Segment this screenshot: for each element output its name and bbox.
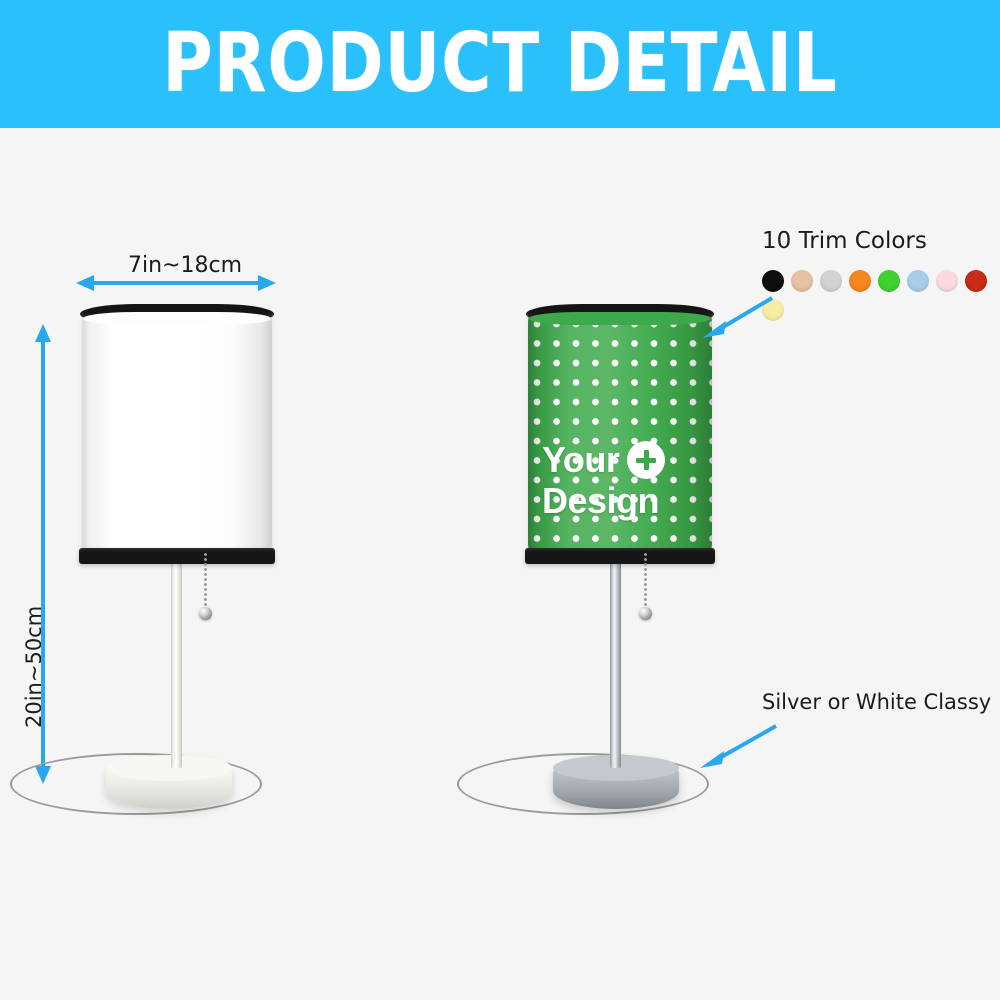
trim-swatch-tan[interactable] [791, 270, 813, 292]
pull-chain-white[interactable] [204, 552, 207, 610]
lamp-base-white [106, 755, 232, 809]
artwork-line-1: Your [542, 441, 665, 479]
trim-swatch-light-blue[interactable] [907, 270, 929, 292]
lamp-pole-silver [610, 553, 621, 768]
pull-chain-silver[interactable] [644, 552, 647, 610]
trim-colors-pointer-arrow [700, 292, 778, 340]
product-illustration-stage: 7in~18cm 20in~50cm [0, 128, 1000, 1000]
shade-trim-top-white [80, 304, 274, 324]
base-finish-label: Silver or White Classy [762, 690, 991, 714]
header-banner: PRODUCT DETAIL [0, 0, 1000, 128]
trim-swatch-black[interactable] [762, 270, 784, 292]
lamp-pole-white [171, 553, 182, 768]
base-top-surface [106, 755, 232, 781]
trim-swatch-pink[interactable] [936, 270, 958, 292]
lampshade-white [82, 313, 272, 553]
pull-chain-ball-silver[interactable] [639, 607, 652, 620]
shade-trim-top-green [526, 304, 714, 324]
pull-chain-ball-white[interactable] [199, 607, 212, 620]
shade-trim-bottom-white [79, 548, 275, 564]
trim-swatch-green[interactable] [878, 270, 900, 292]
artwork-your-text: Your [542, 442, 619, 477]
shade-trim-bottom-green [525, 548, 715, 564]
artwork-design-text: Design [542, 483, 659, 518]
white-lamp [0, 128, 360, 828]
lampshade-green: Your Design [528, 313, 712, 553]
page-title: PRODUCT DETAIL [162, 23, 837, 105]
trim-color-swatch-grid[interactable] [762, 270, 1000, 321]
shade-artwork: Your Design [542, 441, 665, 518]
plus-icon [627, 441, 665, 479]
trim-swatch-red[interactable] [965, 270, 987, 292]
artwork-line-2: Design [542, 483, 665, 518]
base-finish-pointer-arrow [696, 720, 782, 770]
trim-colors-title: 10 Trim Colors [762, 228, 927, 254]
shade-surface-white [82, 313, 272, 553]
trim-swatch-orange[interactable] [849, 270, 871, 292]
trim-swatch-light-gray[interactable] [820, 270, 842, 292]
